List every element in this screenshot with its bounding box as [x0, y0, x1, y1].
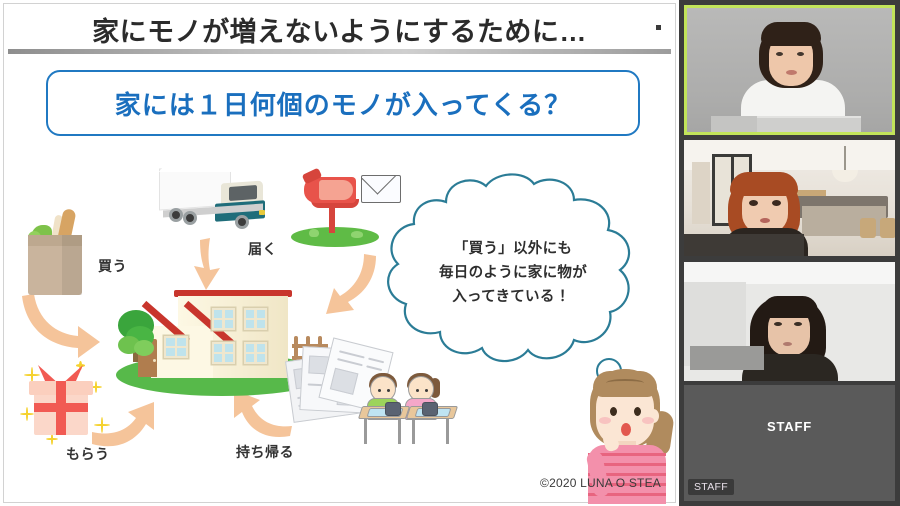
mailbox-icon	[289, 169, 399, 251]
thought-bubble-text: 「買う」以外にも 毎日のように家に物が 入ってきている ！	[384, 238, 642, 310]
thought-bubble: 「買う」以外にも 毎日のように家に物が 入ってきている ！	[384, 172, 642, 367]
label-receive: もらう	[66, 444, 110, 464]
delivery-truck-icon	[159, 162, 274, 234]
staff-placeholder-label: STAFF	[684, 419, 895, 434]
video-tile-participant-3[interactable]	[684, 262, 895, 381]
copyright-text: ©2020 LUNA O STEA	[540, 476, 661, 490]
slide-title: 家にモノが増えないようにするために…	[4, 10, 675, 49]
shared-slide: 家にモノが増えないようにするために… 家には１日何個のモノが入ってくる？	[0, 0, 679, 506]
title-divider	[8, 49, 671, 54]
title-marker-icon	[656, 25, 661, 30]
video-tile-staff[interactable]: STAFF STAFF	[684, 385, 895, 501]
video-feed-2	[684, 140, 895, 256]
question-text: 家には１日何個のモノが入ってくる？	[115, 85, 571, 122]
grocery-bag-icon	[22, 209, 88, 295]
video-tile-participant-2[interactable]	[684, 140, 895, 256]
slide-frame: 家にモノが増えないようにするために… 家には１日何個のモノが入ってくる？	[3, 3, 676, 503]
illustration-stage: 買う	[4, 144, 679, 504]
label-buy: 買う	[98, 256, 127, 276]
label-deliver: 届く	[248, 239, 277, 259]
video-feed-1	[687, 8, 892, 132]
zoom-meeting-window: 家にモノが増えないようにするために… 家には１日何個のモノが入ってくる？	[0, 0, 900, 506]
participant-name-badge: STAFF	[688, 479, 734, 495]
label-bring-home: 持ち帰る	[236, 442, 294, 462]
gift-box-icon	[16, 359, 106, 445]
question-box: 家には１日何個のモノが入ってくる？	[46, 70, 640, 136]
participant-video-panel[interactable]: STAFF STAFF	[679, 0, 900, 506]
video-tile-participant-1[interactable]	[684, 5, 895, 135]
students-at-desks-icon	[356, 362, 466, 448]
video-feed-3	[684, 262, 895, 381]
